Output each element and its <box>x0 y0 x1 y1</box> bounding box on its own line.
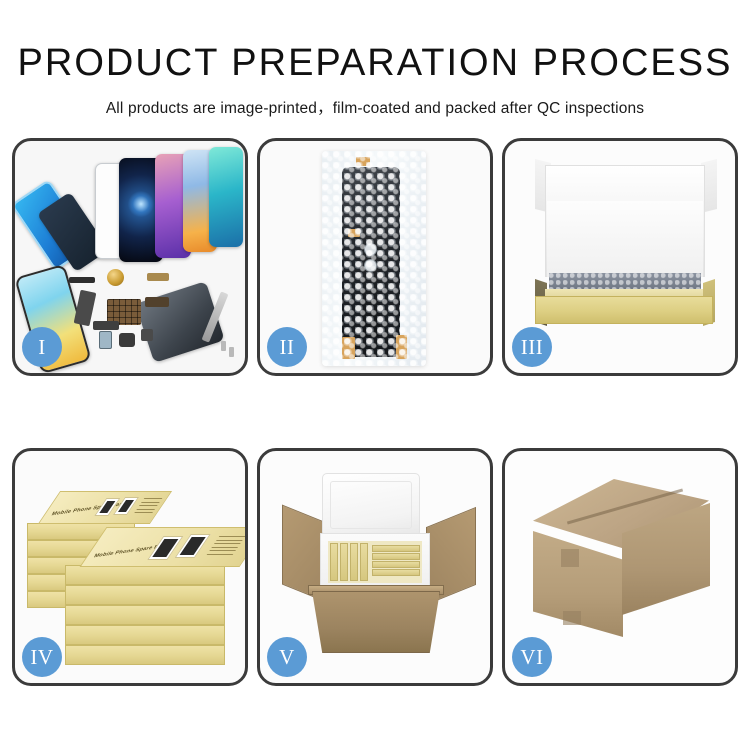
screw-part <box>221 341 226 351</box>
vibration-motor-part <box>107 269 124 286</box>
page-subtitle: All products are image-printed，film-coat… <box>0 82 750 118</box>
box-label-lines <box>133 498 163 516</box>
step-badge-6: VI <box>512 637 552 677</box>
step-badge-4: IV <box>22 637 62 677</box>
packed-box-item <box>372 545 420 552</box>
box-label-lines <box>205 536 245 557</box>
bubble-wrap-highlight <box>322 151 426 366</box>
step-panel-2: II <box>257 138 493 376</box>
camera-module-part <box>119 333 135 347</box>
packed-box-item <box>372 569 420 576</box>
packed-box-item <box>350 543 358 581</box>
packed-box-item <box>340 543 348 581</box>
step-badge-5: V <box>267 637 307 677</box>
step-panel-6: VI <box>502 448 738 686</box>
step-panel-5: V <box>257 448 493 686</box>
packed-box-item <box>330 543 338 581</box>
bubble-bag <box>322 151 426 366</box>
box-stack-item <box>65 605 225 625</box>
step-panel-3: III <box>502 138 738 376</box>
box-front-yellow <box>535 296 713 324</box>
packed-box-item <box>372 553 420 560</box>
speaker-mesh-part <box>69 277 95 283</box>
packed-box-item <box>372 561 420 568</box>
sim-tray-part <box>99 331 112 349</box>
step-badge-3: III <box>512 327 552 367</box>
step-badge-2: II <box>267 327 307 367</box>
foam-box-lid <box>322 473 420 537</box>
flex-strip-part <box>93 321 119 330</box>
box-lid-top: Mobile Phone Spare Parts <box>38 491 172 524</box>
step-badge-1: I <box>22 327 62 367</box>
packed-box-item <box>360 543 368 581</box>
box-stack-item <box>65 565 225 585</box>
carton-body <box>312 591 440 653</box>
carton-label-tab <box>563 611 581 625</box>
screw-part <box>229 347 234 357</box>
box-stack-item <box>65 625 225 645</box>
step-panel-4: Mobile Phone Spare Parts Mobile Phone Sp… <box>12 448 248 686</box>
phone-teal <box>209 147 243 247</box>
step-panel-1: I <box>12 138 248 376</box>
box-stack-item <box>65 645 225 665</box>
box-stack-item <box>65 585 225 605</box>
gold-contact-part <box>147 273 169 281</box>
product-preparation-infographic: PRODUCT PREPARATION PROCESS All products… <box>0 0 750 750</box>
foam-sheet <box>547 201 703 277</box>
carton-label-tab <box>561 549 579 567</box>
foam-box-contents <box>328 541 422 583</box>
page-title: PRODUCT PREPARATION PROCESS <box>0 0 750 82</box>
header: PRODUCT PREPARATION PROCESS All products… <box>0 0 750 118</box>
process-step-grid: I II <box>12 138 738 686</box>
small-chip-part <box>141 329 153 341</box>
scene-stacked-boxes: Mobile Phone Spare Parts Mobile Phone Sp… <box>21 469 245 669</box>
flex-ribbon-part <box>145 297 169 307</box>
box-lid-top: Mobile Phone Spare Parts <box>80 527 248 567</box>
